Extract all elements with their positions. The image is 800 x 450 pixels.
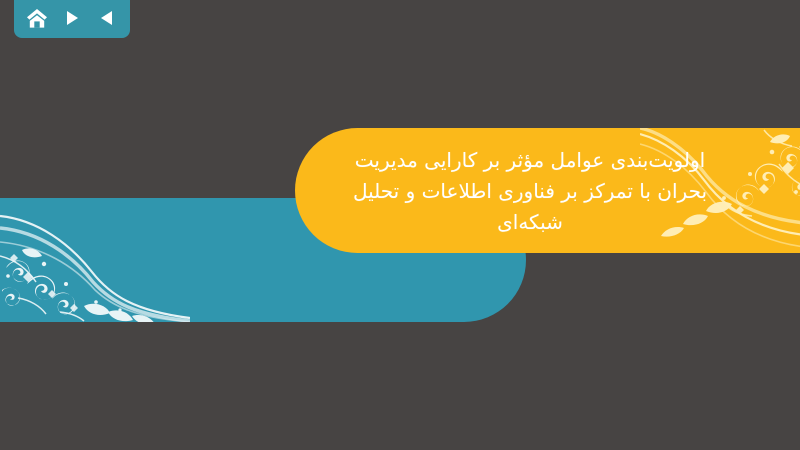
- triangle-left-icon: [98, 9, 116, 27]
- home-button[interactable]: [24, 5, 50, 31]
- orange-arabesque-ornament-icon: [640, 128, 800, 253]
- home-icon: [26, 8, 48, 29]
- navigation-bar: [14, 0, 130, 38]
- presentation-slide: اولویت‌بندی عوامل مؤثر بر کارایی مدیریت …: [0, 0, 800, 450]
- back-button[interactable]: [94, 5, 120, 31]
- orange-banner-shape: [295, 128, 800, 253]
- triangle-right-icon: [63, 9, 81, 27]
- forward-button[interactable]: [59, 5, 85, 31]
- teal-arabesque-ornament-icon: [0, 198, 190, 322]
